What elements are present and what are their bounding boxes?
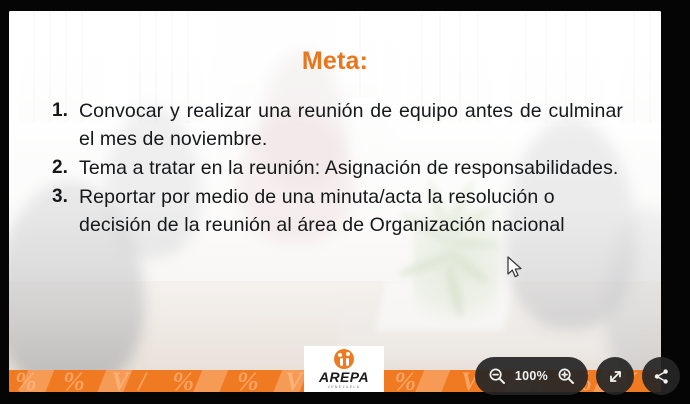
arepa-subtitle: VENEZUELA (328, 385, 361, 390)
arepa-logo: AREPA VENEZUELA (304, 346, 384, 392)
band-pattern-left: % % V/ % (15, 370, 204, 392)
list-item-number: 3. (49, 183, 79, 211)
goal-list: 1. Convocar y realizar una reunión de eq… (49, 97, 623, 240)
share-button[interactable] (642, 357, 680, 395)
fullscreen-button[interactable] (596, 357, 634, 395)
list-item-number: 1. (49, 97, 79, 125)
presentation-viewer: Meta: 1. Convocar y realizar una reunión… (0, 0, 690, 404)
slide-title: Meta: (9, 47, 661, 76)
zoom-controls-group: 100% (475, 357, 588, 395)
list-item-text: Tema a tratar en la reunión: Asignación … (79, 154, 623, 182)
zoom-level[interactable]: 100% (515, 369, 548, 383)
list-item: 2. Tema a tratar en la reunión: Asignaci… (49, 154, 623, 182)
zoom-out-icon[interactable] (488, 367, 506, 385)
list-item-number: 2. (49, 154, 79, 182)
list-item-text: Reportar por medio de una minuta/acta la… (79, 183, 623, 239)
list-item-text: Convocar y realizar una reunión de equip… (79, 97, 623, 153)
zoom-in-icon[interactable] (557, 367, 575, 385)
list-item: 1. Convocar y realizar una reunión de eq… (49, 97, 623, 153)
list-item: 3. Reportar por medio de una minuta/acta… (49, 183, 623, 239)
arepa-wordmark: AREPA (319, 370, 369, 384)
viewer-toolbar: 100% (475, 357, 680, 395)
slide-canvas[interactable]: Meta: 1. Convocar y realizar una reunión… (9, 11, 661, 392)
fullscreen-icon (606, 367, 625, 386)
share-icon (652, 367, 671, 386)
mouse-cursor (506, 256, 523, 279)
arepa-emblem-icon (334, 349, 354, 369)
